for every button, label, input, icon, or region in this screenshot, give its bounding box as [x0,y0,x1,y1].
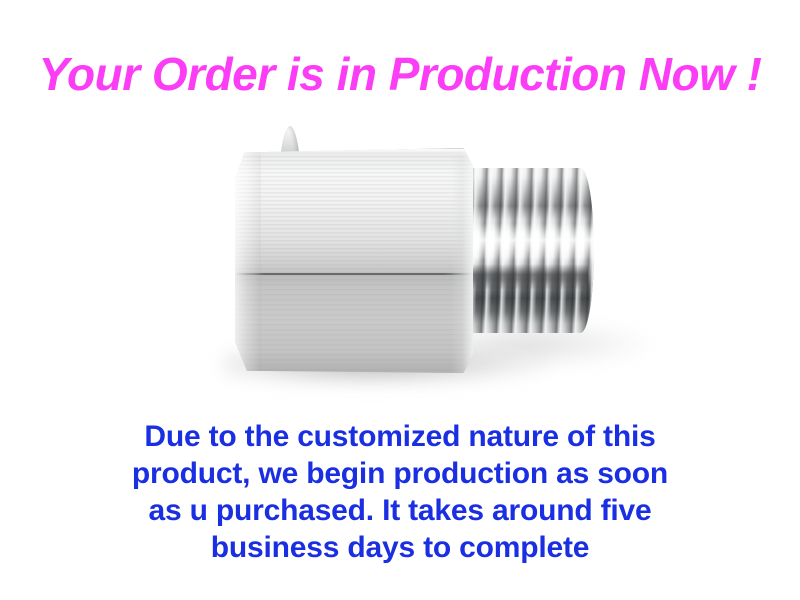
hex-right-chamfer [451,148,473,373]
hex-nut-body [235,148,473,373]
product-image [150,120,670,410]
notice-line-3: as u purchased. It takes around five [60,492,740,529]
notice-line-2: product, we begin production as soon [60,455,740,492]
hex-top-highlight [242,149,466,156]
notice-line-1: Due to the customized nature of this [60,418,740,455]
hex-facet-edge [237,273,471,275]
hex-left-chamfer [235,148,261,373]
notice-body-text: Due to the customized nature of this pro… [60,418,740,566]
hex-machining-marks [235,148,473,274]
production-notice-poster: Your Order is in Production Now ! Due to… [0,0,800,600]
page-title: Your Order is in Production Now ! [0,50,800,98]
notice-line-4: business days to complete [60,529,740,566]
hex-bottom-grain [235,274,473,373]
